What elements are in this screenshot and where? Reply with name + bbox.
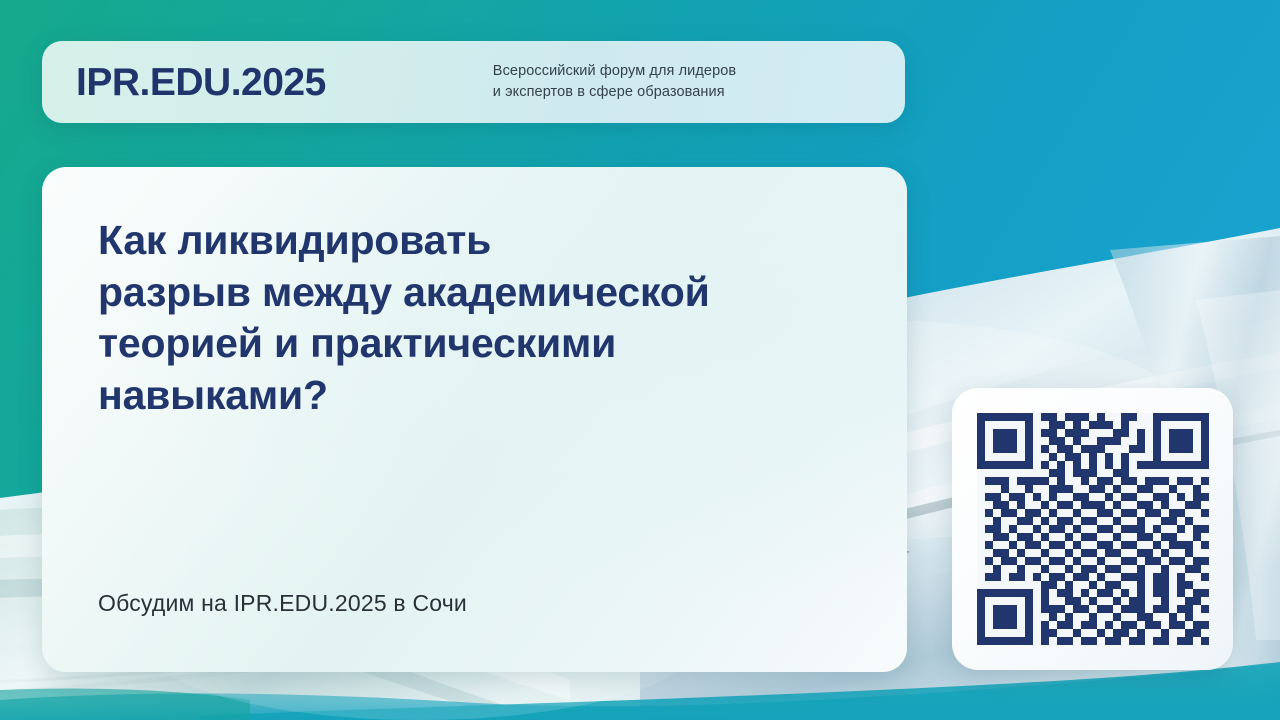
slide-canvas: IPR.EDU.2025 Всероссийский форум для лид… [0,0,1280,720]
qr-code-icon[interactable] [977,413,1209,645]
footnote: Обсудим на IPR.EDU.2025 в Сочи [98,590,851,618]
qr-card[interactable] [952,388,1233,670]
header-card: IPR.EDU.2025 Всероссийский форум для лид… [42,41,905,123]
main-content-card: Как ликвидировать разрыв между академиче… [42,167,907,672]
headline: Как ликвидировать разрыв между академиче… [98,215,851,422]
header-tagline: Всероссийский форум для лидеров и экспер… [493,61,736,103]
brand-logo: IPR.EDU.2025 [76,63,326,102]
